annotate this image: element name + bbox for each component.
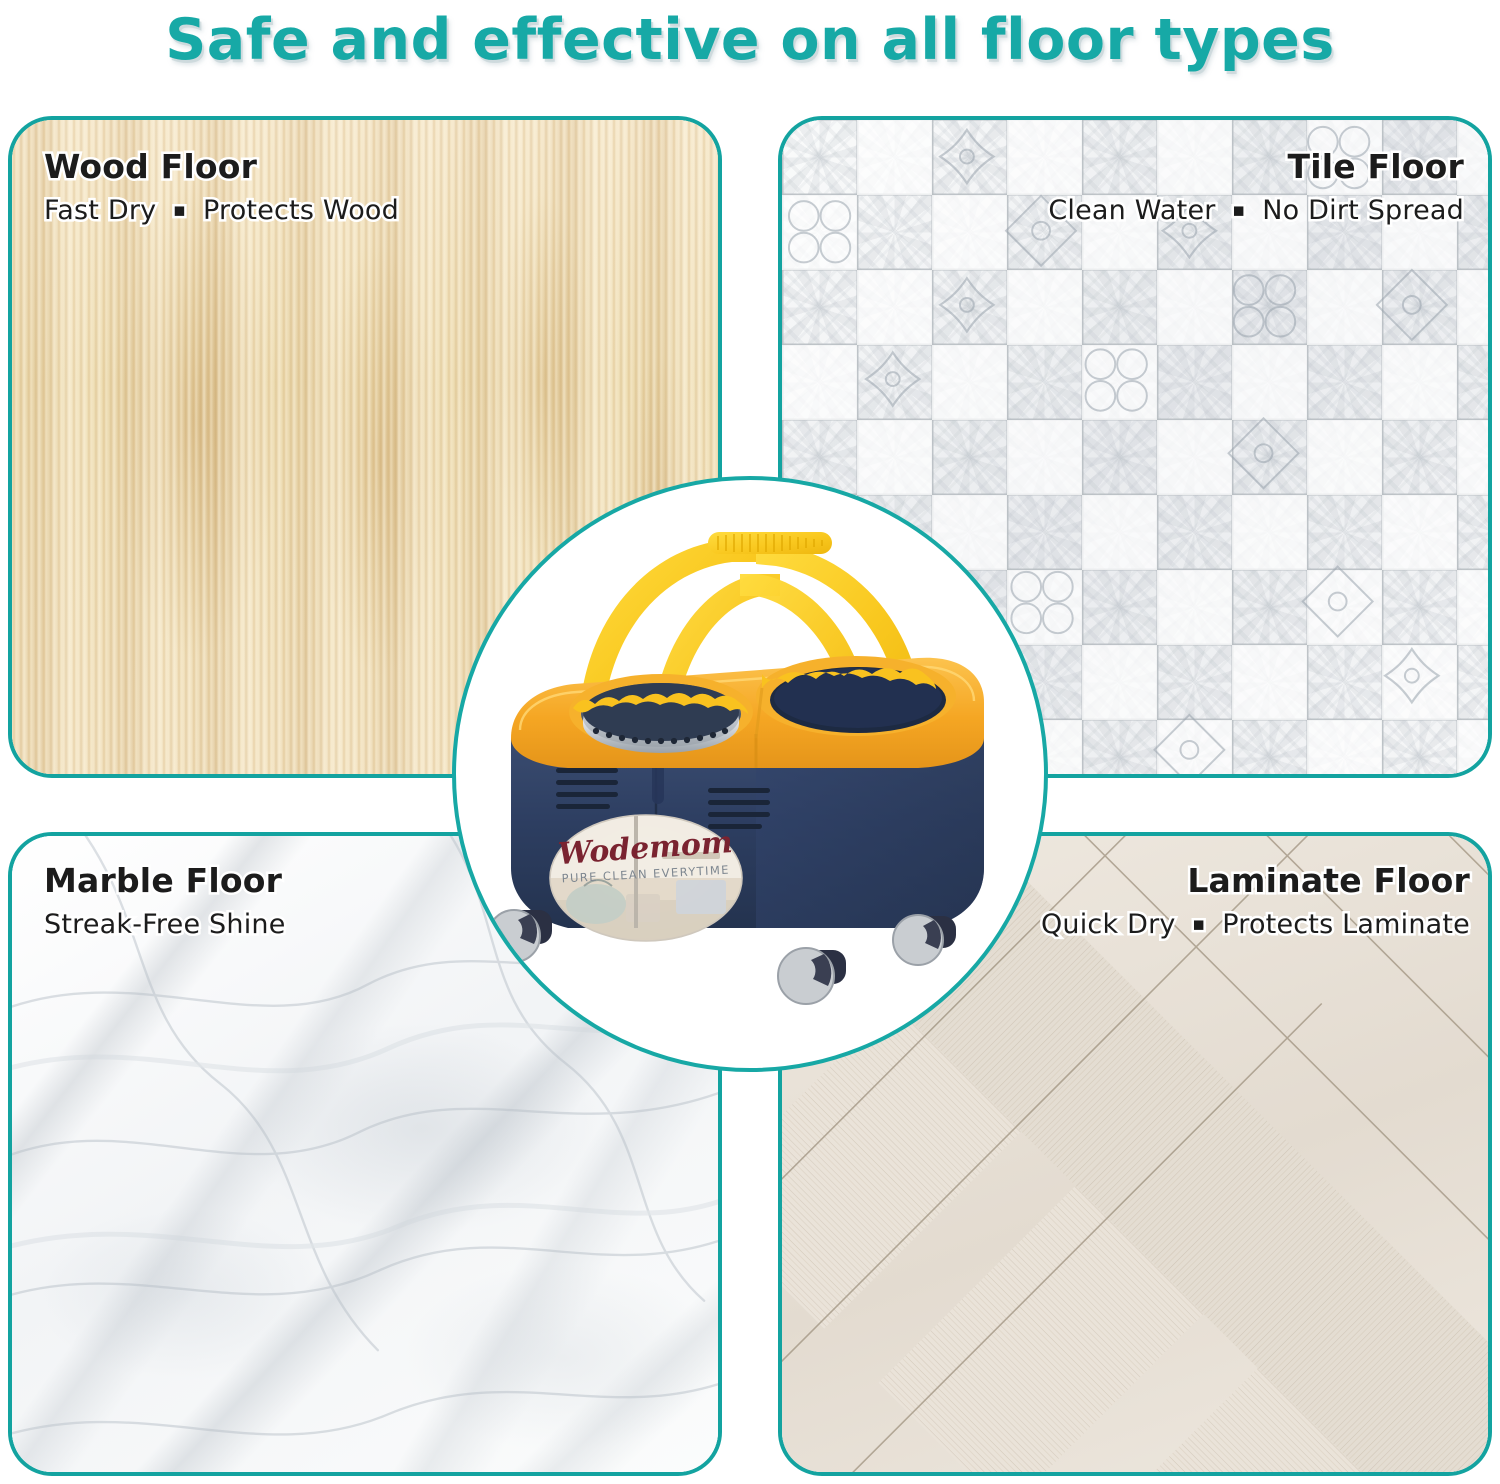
caster-front-left	[488, 910, 552, 962]
product-spotlight-circle: Wodemom PURE CLEAN EVERYTIME	[452, 476, 1048, 1072]
caster-front-right	[778, 948, 846, 1004]
headline-banner: Safe and effective on all floor types	[0, 0, 1500, 80]
product-feature-graphic: Safe and effective on all floor types Wo…	[0, 0, 1500, 1484]
page-title: Safe and effective on all floor types	[165, 7, 1335, 73]
caster-rear-right	[893, 915, 956, 965]
product-image-spin-mop-bucket: Wodemom PURE CLEAN EVERYTIME	[456, 480, 1048, 1072]
water-chamber	[756, 656, 956, 736]
brand-label: Wodemom PURE CLEAN EVERYTIME	[550, 815, 742, 941]
